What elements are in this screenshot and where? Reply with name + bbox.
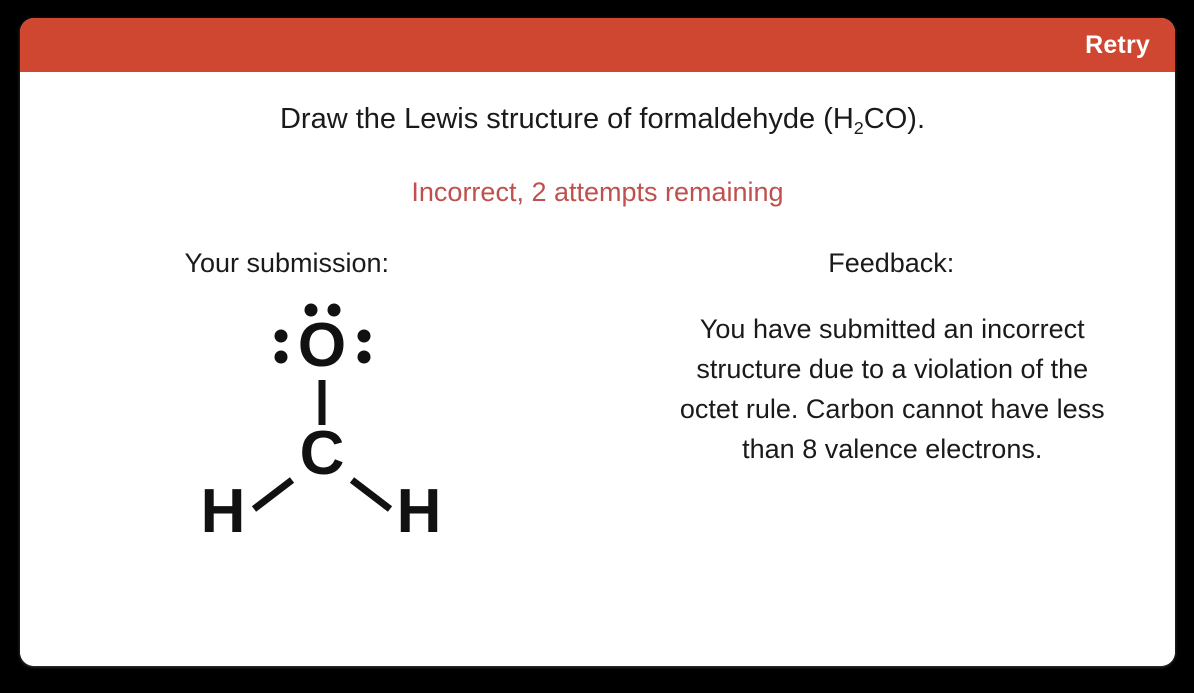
app-root: Retry Draw the Lewis structure of formal… [0, 0, 1194, 693]
atom-label-carbon: C [299, 419, 344, 488]
oxygen-lone-pair-dot-left-lower [274, 351, 287, 364]
question-prompt: Draw the Lewis structure of formaldehyde… [20, 102, 1175, 137]
atom-label-hydrogen-right: H [396, 477, 441, 546]
results-columns: Your submission: [20, 247, 1175, 647]
question-prefix: Draw the Lewis structure of formaldehyde… [280, 103, 854, 135]
submission-heading: Your submission: [20, 247, 598, 279]
submission-column: Your submission: [20, 247, 598, 647]
oxygen-lone-pair-dot-left-upper [274, 330, 287, 343]
lewis-structure-svg: O C H H [149, 289, 469, 549]
question-suffix: CO). [864, 103, 925, 135]
feedback-body: You have submitted an incorrect structur… [598, 309, 1176, 469]
question-subscript: 2 [854, 118, 864, 138]
lewis-structure-diagram: O C H H [20, 289, 598, 559]
feedback-heading: Feedback: [598, 247, 1176, 279]
card-body: Draw the Lewis structure of formaldehyde… [20, 72, 1175, 666]
oxygen-lone-pair-dot-right-lower [357, 351, 370, 364]
card-header-bar: Retry [20, 18, 1175, 72]
oxygen-lone-pair-dot-right-upper [357, 330, 370, 343]
atom-label-oxygen: O [298, 311, 346, 380]
retry-button[interactable]: Retry [1085, 33, 1150, 58]
feedback-column: Feedback: You have submitted an incorrec… [598, 247, 1176, 647]
atom-label-hydrogen-left: H [200, 477, 245, 546]
status-badge: Incorrect, 2 attempts remaining [20, 176, 1175, 208]
exercise-card: Retry Draw the Lewis structure of formal… [20, 18, 1175, 666]
bond-carbon-hydrogen-right [352, 480, 390, 509]
bond-carbon-hydrogen-left [254, 480, 292, 509]
